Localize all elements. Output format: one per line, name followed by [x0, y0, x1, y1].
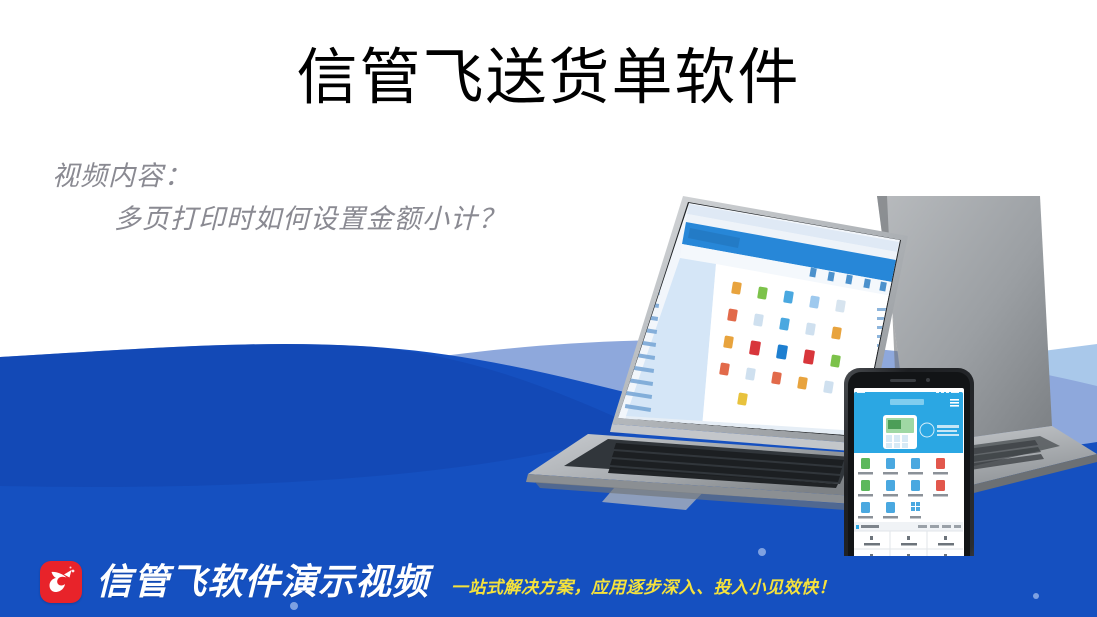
phone-screen-content — [854, 388, 964, 556]
bottom-banner: 信管飞软件演示视频 一站式解决方案，应用逐步深入、投入小见效快！ — [0, 547, 1097, 617]
presentation-slide: 信管飞送货单软件 视频内容： 多页打印时如何设置金额小计？ — [0, 0, 1097, 617]
banner-content-row: 信管飞软件演示视频 一站式解决方案，应用逐步深入、投入小见效快！ — [40, 561, 836, 603]
brand-tagline: 一站式解决方案，应用逐步深入、投入小见效快！ — [451, 573, 836, 603]
xinguanfei-logo-icon — [40, 561, 82, 603]
video-content-label: 视频内容： — [52, 163, 506, 190]
slide-title: 信管飞送货单软件 — [0, 44, 1097, 114]
brand-title: 信管飞软件演示视频 — [96, 564, 429, 600]
device-mockup-group — [440, 196, 1097, 556]
smartphone-app-preview — [844, 368, 974, 556]
video-content-block: 视频内容： 多页打印时如何设置金额小计？ — [52, 163, 506, 233]
